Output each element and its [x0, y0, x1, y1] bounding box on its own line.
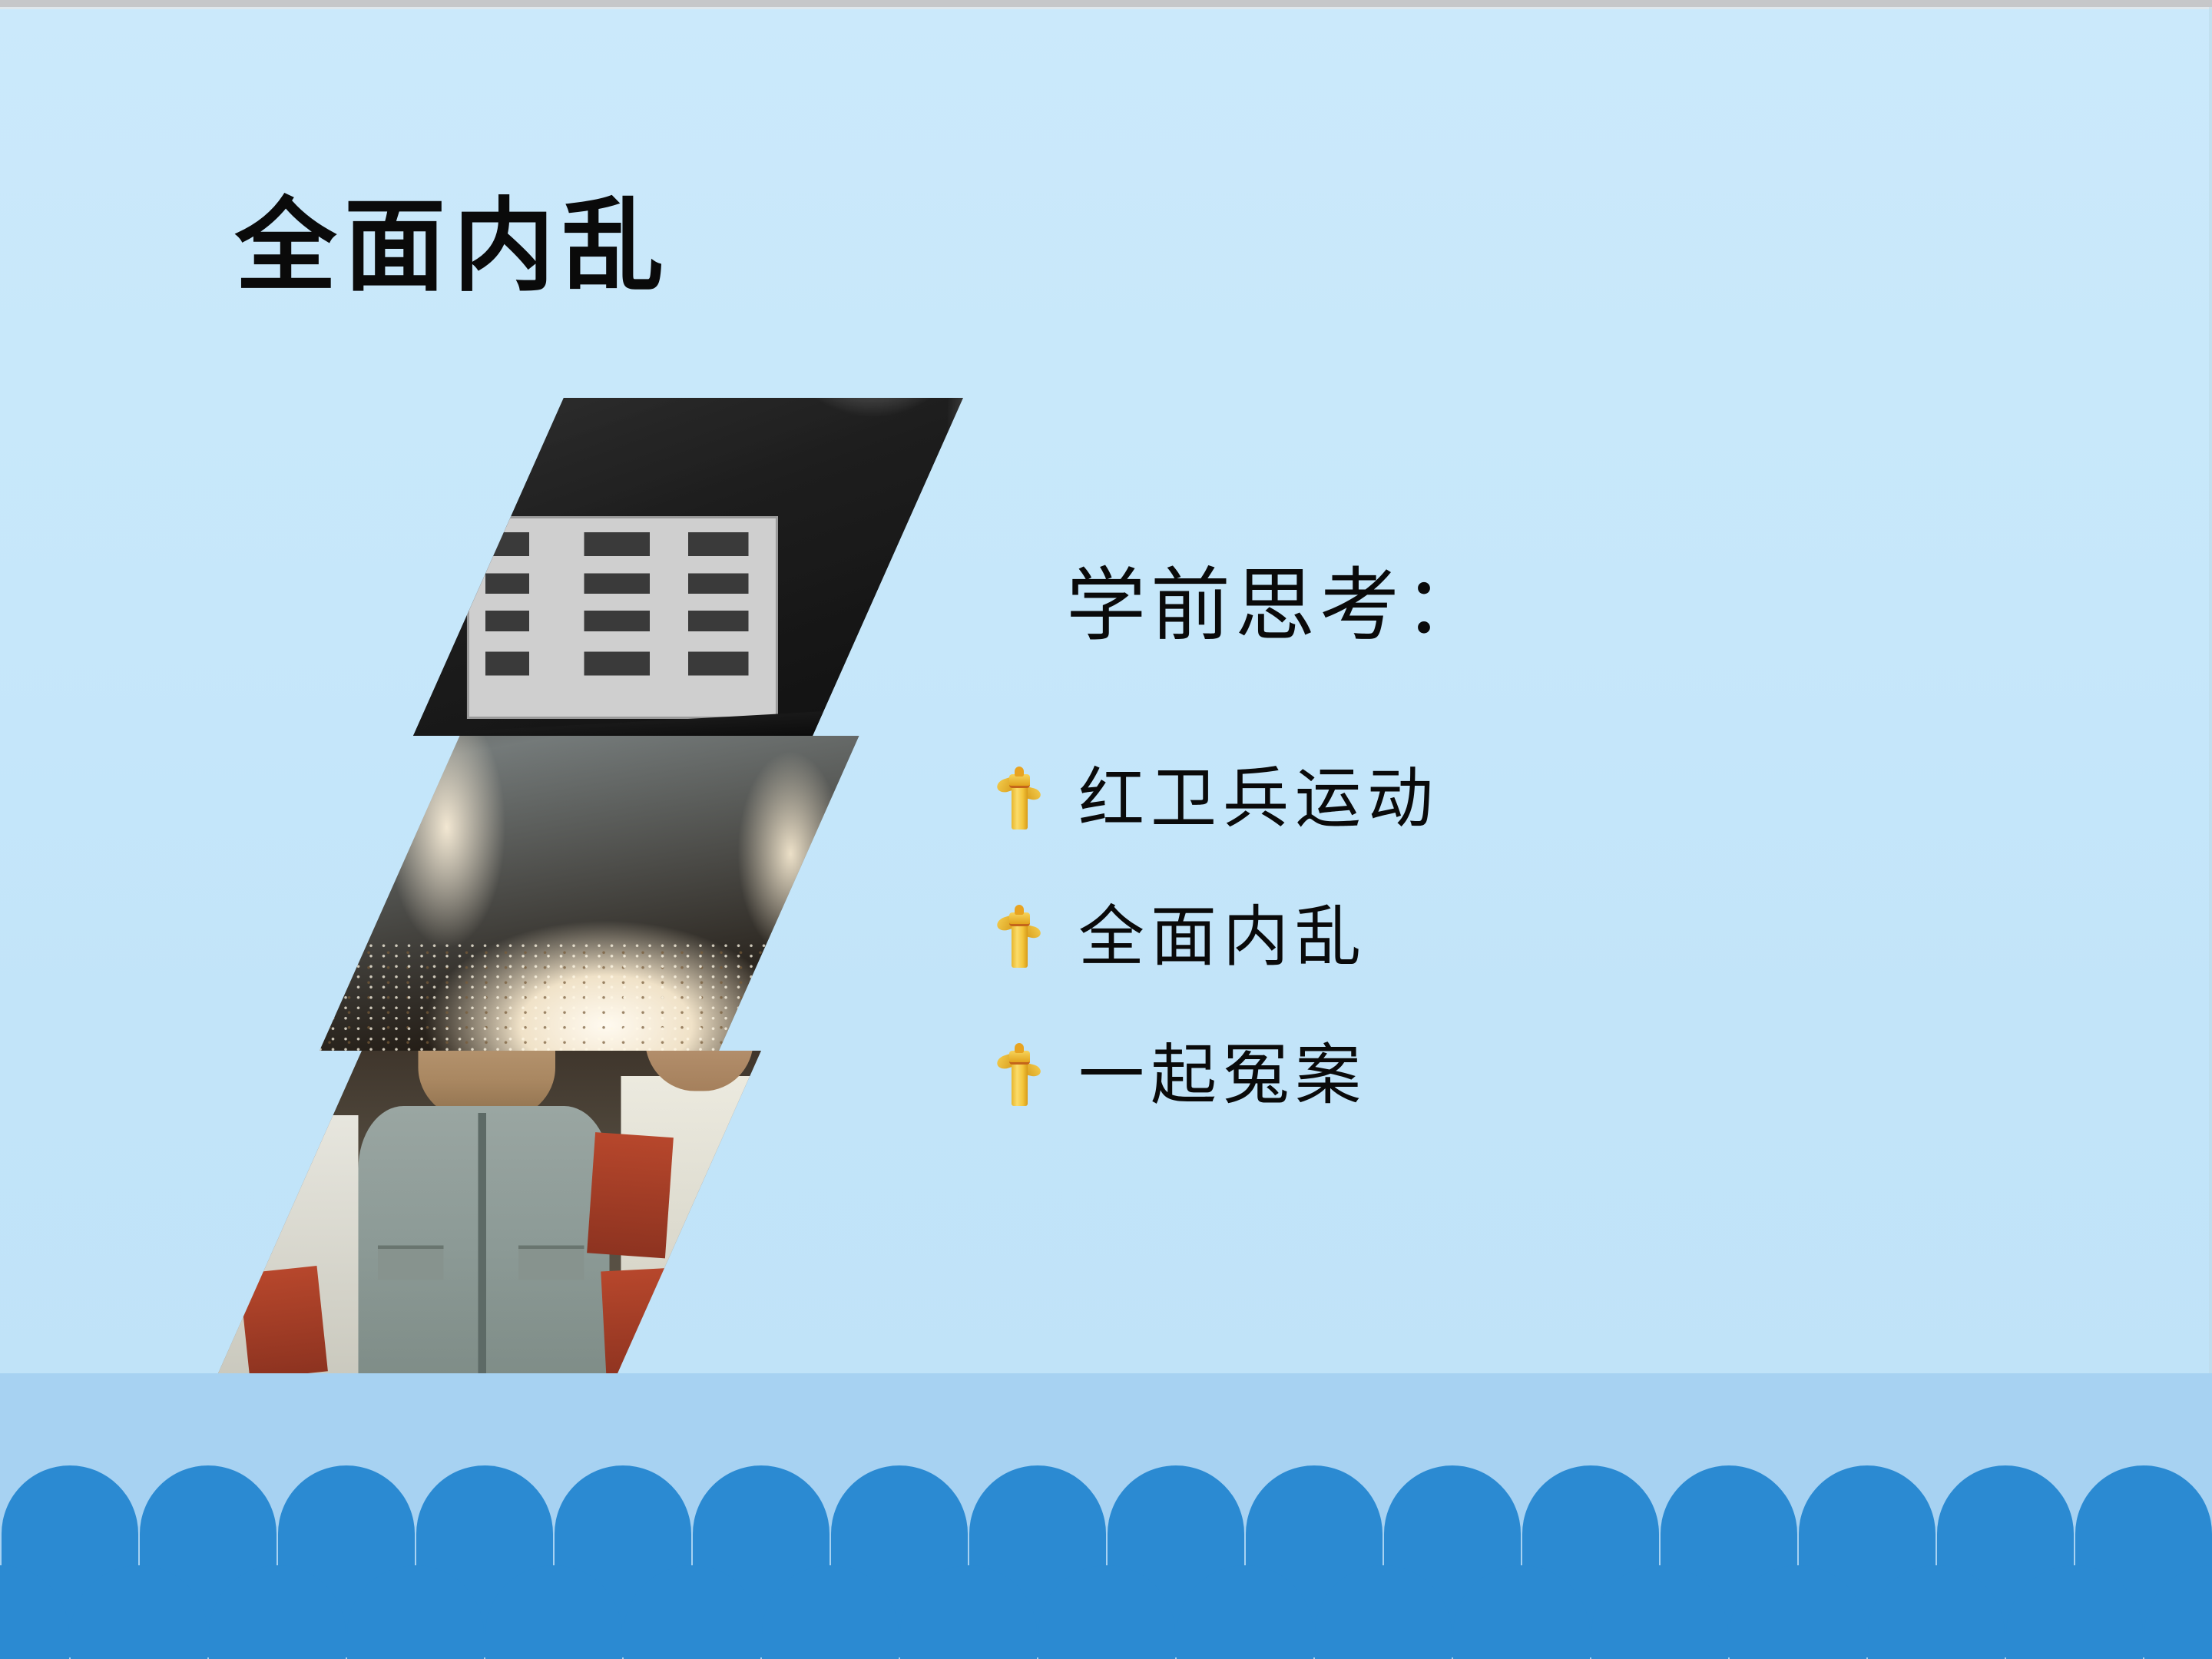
photo1-banner-placard: [466, 516, 778, 719]
arch-shape: [209, 1565, 346, 1659]
arch-shape: [1868, 1565, 2005, 1659]
list-item[interactable]: 红卫兵运动: [998, 753, 1997, 845]
gold-torch-figure-icon: [998, 1043, 1041, 1108]
gold-torch-figure-icon: [998, 767, 1041, 831]
arch-shape: [900, 1565, 1037, 1659]
photo-night-crowd-bonfire: [320, 736, 859, 1051]
gold-torch-figure-icon: [998, 905, 1041, 969]
photo-collage-parallelogram: [207, 398, 1106, 1373]
page-title: 全面内乱: [235, 183, 671, 310]
bottom-decorative-band: [0, 1373, 2212, 1659]
arch-row-front: [0, 1565, 2212, 1659]
arch-shape: [2144, 1565, 2212, 1659]
arch-shape: [71, 1565, 207, 1659]
photo-struggle-session-banner: [413, 398, 963, 736]
arch-shape: [1315, 1565, 1452, 1659]
photo3-left-figure-face: [238, 1051, 334, 1134]
window-top-strip-edge: [0, 7, 2212, 9]
arch-shape: [485, 1565, 622, 1659]
photo3-red-book: [601, 1268, 678, 1373]
photo3-red-book: [588, 1132, 674, 1258]
list-item-label: 一起冤案: [1078, 1042, 1367, 1108]
arch-shape: [1177, 1565, 1313, 1659]
arch-shape: [347, 1565, 484, 1659]
arch-shape: [1038, 1565, 1175, 1659]
arch-shape: [2006, 1565, 2143, 1659]
window-top-strip: [0, 0, 2212, 7]
arch-shape: [0, 1565, 69, 1659]
photo3-red-book: [239, 1267, 327, 1373]
list-item[interactable]: 一起冤案: [998, 1029, 1997, 1121]
list-item-label: 全面内乱: [1078, 904, 1367, 970]
photo-elderly-man-red-guards: [218, 1051, 761, 1373]
list-item[interactable]: 全面内乱: [998, 891, 1997, 983]
photo3-tunic-pocket-left: [378, 1245, 443, 1280]
arch-shape: [1730, 1565, 1866, 1659]
bullet-list: 红卫兵运动 全面内乱 一起冤案: [998, 753, 1997, 1167]
arch-shape: [762, 1565, 899, 1659]
slide-canvas: 全面内乱: [0, 0, 2212, 1659]
subheading: 学前思考：: [1066, 558, 1488, 654]
arch-shape: [624, 1565, 760, 1659]
arch-shape: [1453, 1565, 1590, 1659]
photo3-elder-tunic: [358, 1105, 610, 1373]
arch-shape: [1591, 1565, 1728, 1659]
photo2-crowd-texture: [320, 941, 859, 1051]
photo3-tunic-pocket-right: [519, 1245, 584, 1280]
list-item-label: 红卫兵运动: [1078, 766, 1439, 832]
